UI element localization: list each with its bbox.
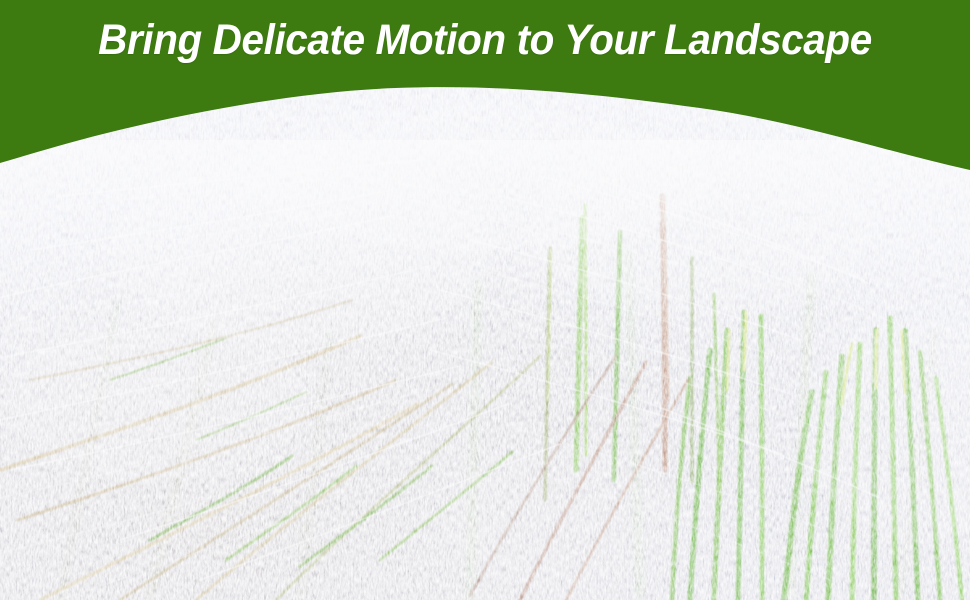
grass-photo xyxy=(0,0,970,600)
promo-banner: Bring Delicate Motion to Your Landscape xyxy=(0,0,970,600)
page-title: Bring Delicate Motion to Your Landscape xyxy=(29,15,941,65)
